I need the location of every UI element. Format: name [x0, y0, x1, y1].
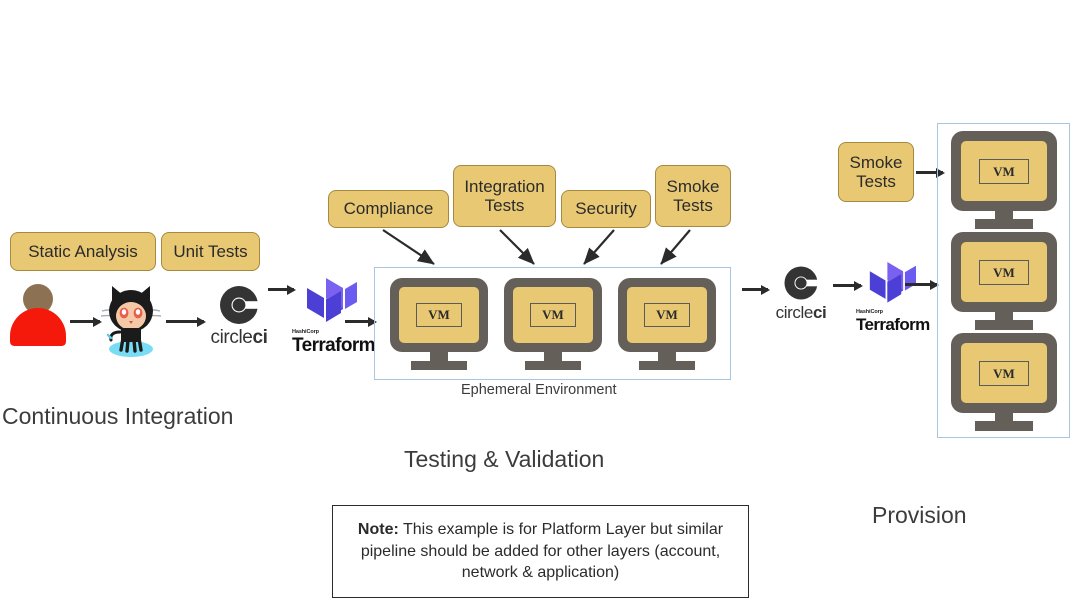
- vm-label: VM: [993, 366, 1015, 382]
- vm-label: VM: [542, 307, 564, 323]
- arrow-terraform-to-provision-environment: [905, 283, 937, 286]
- diagram-canvas: Static Analysis Unit Tests: [0, 0, 1080, 608]
- terraform-logo-provision: HashiCorp Terraform: [856, 262, 928, 333]
- monitor-foot: [975, 219, 1033, 229]
- circleci-mark-icon: [781, 264, 821, 302]
- vm-label: VM: [428, 307, 450, 323]
- task-box-label-line1: Smoke: [850, 153, 903, 172]
- note-prefix: Note:: [358, 521, 399, 538]
- note-box: Note: This example is for Platform Layer…: [332, 505, 749, 598]
- vm-label-chip: VM: [979, 260, 1029, 285]
- vm-label-chip: VM: [416, 303, 462, 327]
- vm-label-chip: VM: [979, 361, 1029, 386]
- vm-label: VM: [993, 164, 1015, 180]
- note-text: Note: This example is for Platform Layer…: [345, 519, 736, 584]
- monitor-foot: [975, 320, 1033, 330]
- vm-label-chip: VM: [530, 303, 576, 327]
- monitor-foot: [975, 421, 1033, 431]
- section-label-provision: Provision: [872, 502, 967, 529]
- vm-label-chip: VM: [644, 303, 690, 327]
- circleci-wordmark: circleci: [764, 303, 838, 323]
- monitor-foot: [411, 361, 467, 370]
- vm-monitor-1: VM: [390, 278, 488, 370]
- monitor-foot: [525, 361, 581, 370]
- note-body: This example is for Platform Layer but s…: [361, 521, 723, 581]
- task-box-smoke-tests-provision[interactable]: Smoke Tests: [838, 142, 914, 202]
- vm-label-chip: VM: [979, 159, 1029, 184]
- provision-vm-monitor-3: VM: [951, 333, 1057, 431]
- vm-monitor-3: VM: [618, 278, 716, 370]
- provision-vm-monitor-1: VM: [951, 131, 1057, 229]
- ephemeral-environment-label: Ephemeral Environment: [461, 382, 617, 398]
- vm-monitor-2: VM: [504, 278, 602, 370]
- terraform-mark-icon: [868, 262, 916, 310]
- monitor-foot: [639, 361, 695, 370]
- task-box-label-line2: Tests: [856, 172, 896, 191]
- vm-label: VM: [656, 307, 678, 323]
- terraform-wordmark: Terraform: [856, 316, 928, 333]
- circleci-wordmark-bold: ci: [813, 303, 826, 322]
- circleci-logo-provision: circleci: [764, 264, 838, 323]
- section-label-testing-validation: Testing & Validation: [404, 446, 604, 473]
- provision-vm-monitor-2: VM: [951, 232, 1057, 330]
- circleci-wordmark-light: circle: [776, 303, 813, 322]
- vm-label: VM: [993, 265, 1015, 281]
